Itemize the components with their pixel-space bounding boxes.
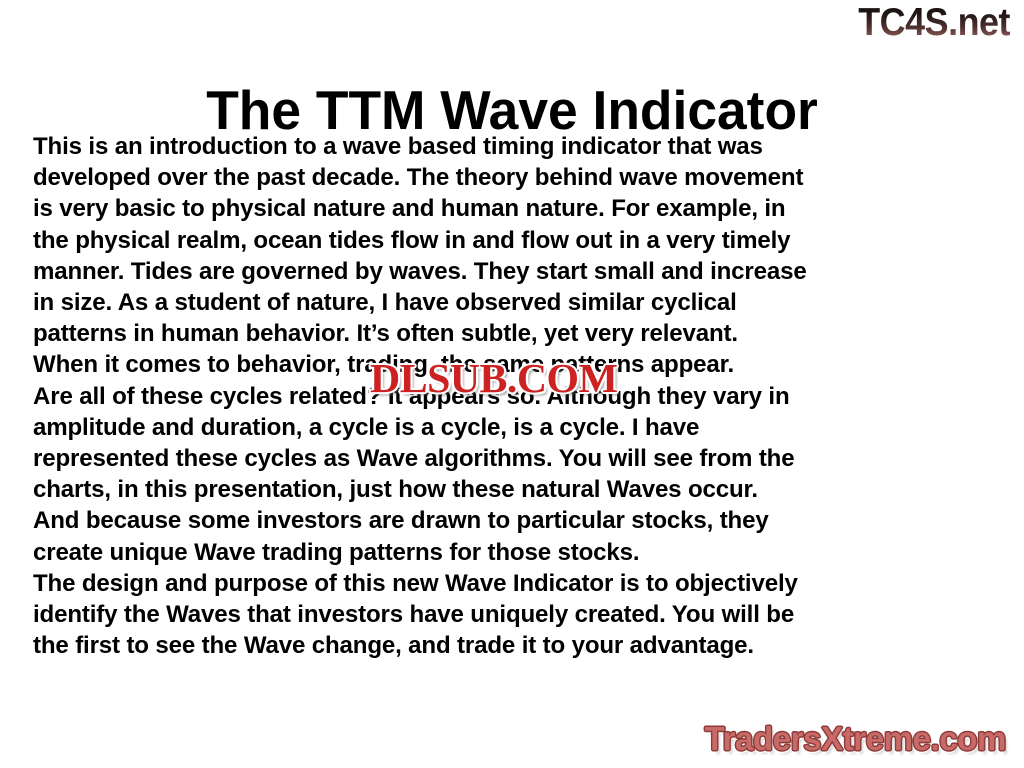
body-line: The design and purpose of this new Wave … [33, 568, 990, 599]
watermark-dlsub: DLSUB.COM [370, 358, 618, 399]
body-line: amplitude and duration, a cycle is a cyc… [33, 412, 990, 443]
body-line: the physical realm, ocean tides flow in … [33, 225, 990, 256]
body-line: manner. Tides are governed by waves. The… [33, 256, 990, 287]
brand-logo-tc4s: TC4S.net [858, 2, 1010, 44]
body-line: patterns in human behavior. It’s often s… [33, 318, 990, 349]
body-line: charts, in this presentation, just how t… [33, 474, 990, 505]
body-line: the first to see the Wave change, and tr… [33, 630, 990, 661]
brand-logo-tradersxtreme: TradersXtreme.com [705, 720, 1006, 758]
body-line: create unique Wave trading patterns for … [33, 537, 990, 568]
paragraph-intro: This is an introduction to a wave based … [33, 131, 990, 568]
body-line: represented these cycles as Wave algorit… [33, 443, 990, 474]
body-line: developed over the past decade. The theo… [33, 162, 990, 193]
body-line: in size. As a student of nature, I have … [33, 287, 990, 318]
body-line: identify the Waves that investors have u… [33, 599, 990, 630]
paragraph-purpose: The design and purpose of this new Wave … [33, 568, 990, 662]
slide-canvas: { "slide": { "title": "The TTM Wave Indi… [0, 0, 1024, 768]
body-line: And because some investors are drawn to … [33, 505, 990, 536]
body-line: This is an introduction to a wave based … [33, 131, 990, 162]
body-line: is very basic to physical nature and hum… [33, 193, 990, 224]
